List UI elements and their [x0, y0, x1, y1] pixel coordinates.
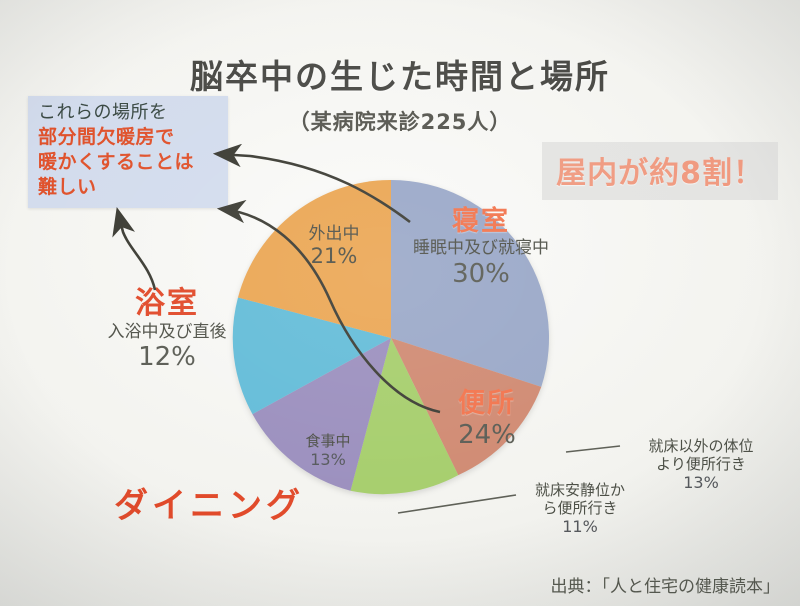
- label-bath-percent: 12%: [62, 342, 272, 373]
- label-bedroom-detail: 睡眠中及び就寝中: [406, 238, 556, 258]
- label-dining-heading: ダイニング: [114, 486, 304, 527]
- arrow-to-callout-bath: [118, 212, 155, 290]
- callout-box: これらの場所を 部分間欠暖房で 暖かくすることは 難しい: [28, 96, 228, 208]
- label-toilet-from-rest-line-2: ら便所行き: [521, 499, 639, 517]
- label-dining: ダイニング: [114, 486, 304, 527]
- label-bath-detail: 入浴中及び直後: [62, 322, 272, 342]
- callout-lead-text: これらの場所を: [38, 102, 220, 124]
- label-bath: 浴室 入浴中及び直後 12%: [62, 286, 272, 374]
- label-toilet-from-other: 就床以外の体位 より便所行き 13%: [628, 437, 774, 492]
- label-meal-heading: 食事中: [284, 432, 372, 450]
- callout-emphasis-line-2: 暖かくすることは: [38, 151, 220, 174]
- indoor-ratio-badge: 屋内が約8割！: [542, 142, 778, 200]
- label-bedroom-heading: 寝室: [406, 206, 556, 238]
- label-outing: 外出中 21%: [288, 224, 380, 270]
- source-citation: 出典：「人と住宅の健康読本」: [551, 572, 781, 597]
- label-toilet-from-rest-line-1: 就床安静位か: [521, 481, 639, 499]
- label-toilet-percent: 24%: [432, 420, 542, 451]
- label-bath-heading: 浴室: [62, 286, 272, 322]
- label-outing-percent: 21%: [288, 244, 380, 269]
- label-bedroom: 寝室 睡眠中及び就寝中 30%: [406, 206, 556, 290]
- label-toilet-from-other-percent: 13%: [628, 473, 774, 492]
- label-bedroom-percent: 30%: [406, 259, 556, 290]
- label-toilet-from-rest-percent: 11%: [521, 517, 639, 536]
- label-toilet-from-other-line-2: より便所行き: [628, 455, 774, 473]
- label-meal: 食事中 13%: [284, 432, 372, 469]
- label-toilet-heading: 便所: [432, 388, 542, 420]
- label-meal-percent: 13%: [284, 450, 372, 469]
- label-toilet-from-rest: 就床安静位か ら便所行き 11%: [521, 481, 639, 536]
- callout-emphasis-line-1: 部分間欠暖房で: [38, 126, 220, 149]
- callout-emphasis-line-3: 難しい: [38, 176, 220, 199]
- page-title: 脳卒中の生じた時間と場所: [0, 50, 800, 98]
- presentation-slide: 脳卒中の生じた時間と場所 （某病院来診225人） これらの場所を 部分間欠暖房で…: [0, 0, 800, 606]
- label-outing-heading: 外出中: [288, 224, 380, 244]
- label-toilet: 便所 24%: [432, 388, 542, 452]
- label-toilet-from-other-line-1: 就床以外の体位: [628, 437, 774, 455]
